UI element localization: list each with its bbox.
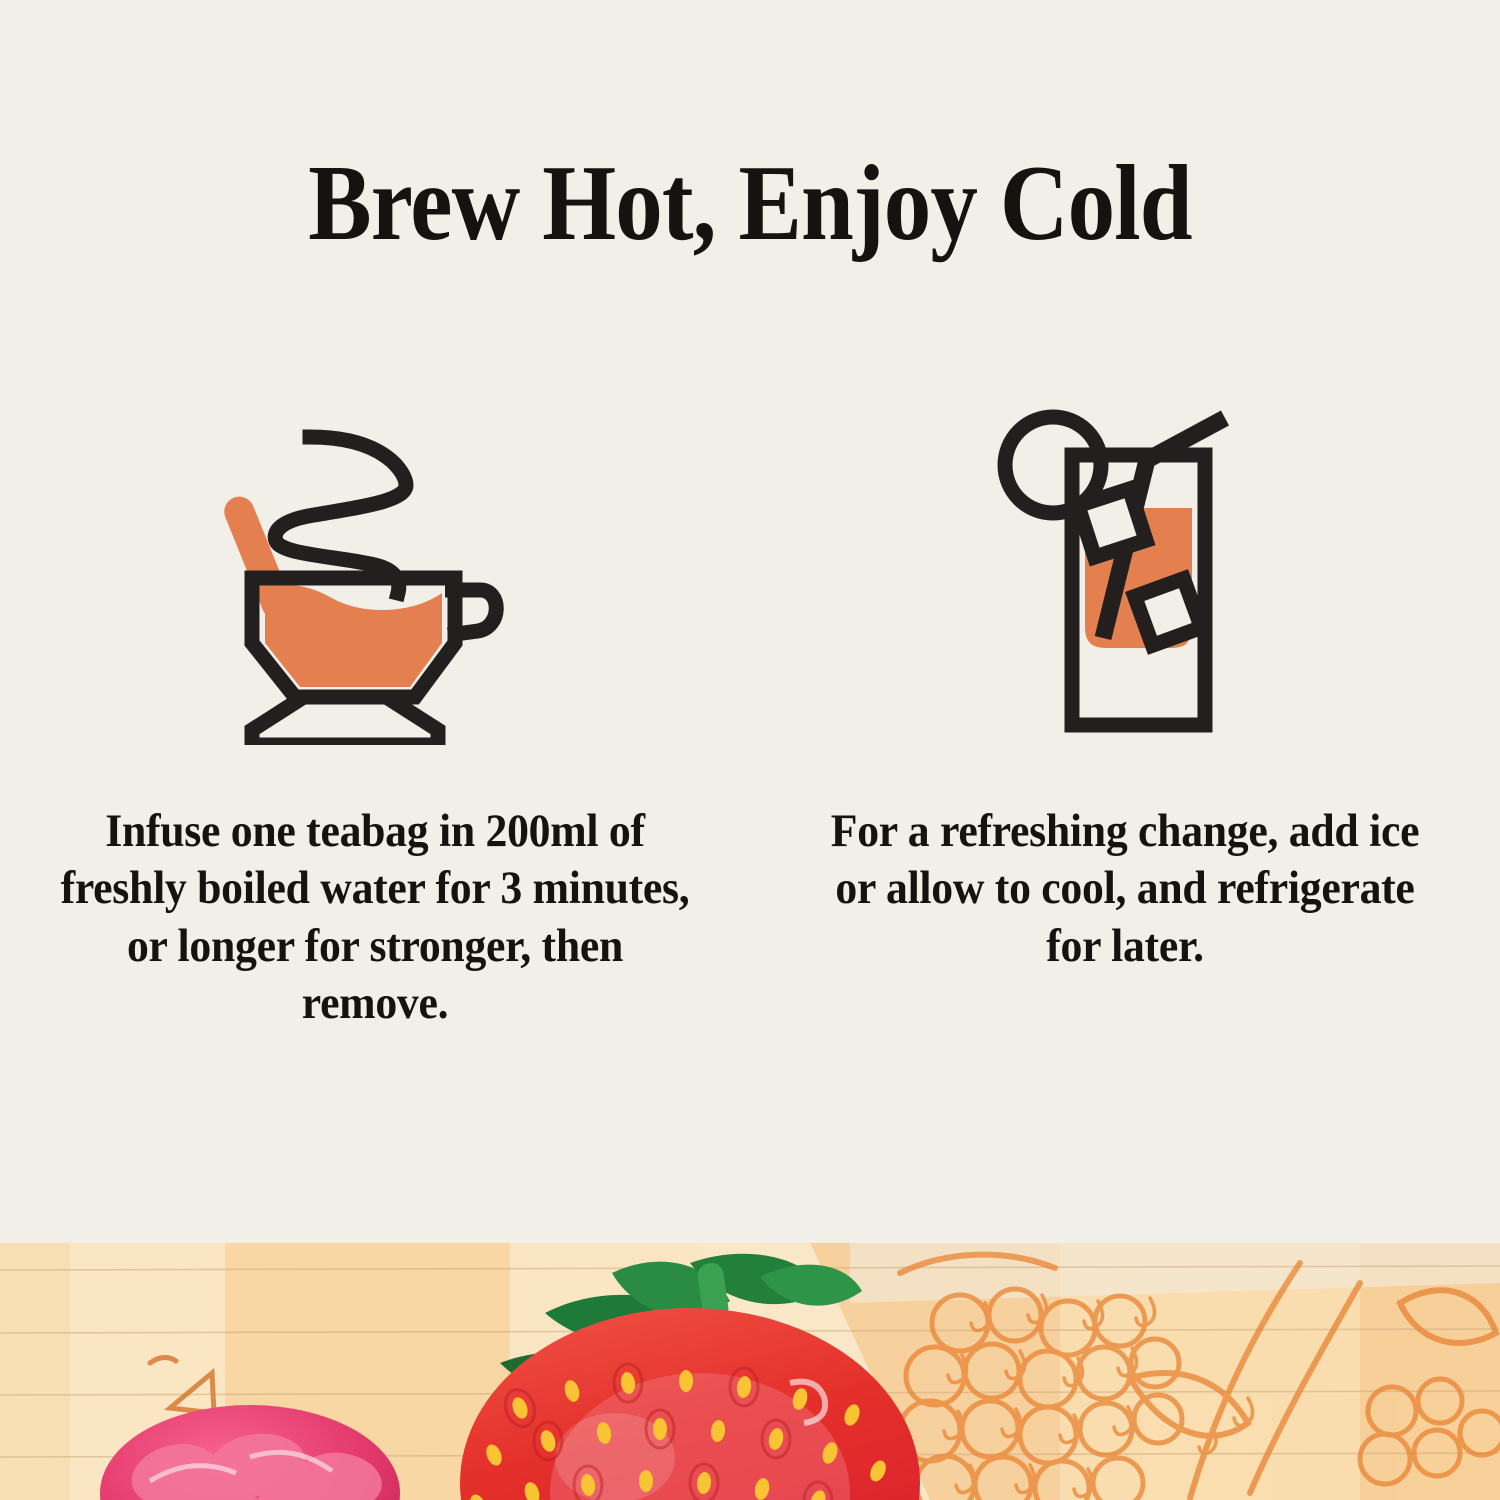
steam-icon [275,437,406,593]
iced-drink-icon-wrapper [990,395,1260,745]
teacup-icon [210,415,540,745]
footer-fruit-band [0,1243,1500,1500]
teacup-icon-wrapper [210,395,540,745]
instruction-step-cold: For a refreshing change, add ice or allo… [750,395,1500,975]
tea-liquid [265,585,442,687]
ice-cube-icon-2 [1135,579,1202,646]
instruction-step-hot: Infuse one teabag in 200ml of freshly bo… [0,395,750,1032]
saucer [252,698,438,745]
instruction-columns: Infuse one teabag in 200ml of freshly bo… [0,395,1500,1032]
instruction-caption-hot: Infuse one teabag in 200ml of freshly bo… [50,803,701,1032]
recipe-instructions-poster: Brew Hot, Enjoy Cold [0,0,1500,1500]
instruction-caption-cold: For a refreshing change, add ice or allo… [827,803,1422,975]
fruit-band-artwork [0,1243,1500,1500]
ice-cube-icon-1 [1078,489,1146,557]
iced-drink-glass-icon [990,400,1260,745]
page-title: Brew Hot, Enjoy Cold [90,150,1410,258]
